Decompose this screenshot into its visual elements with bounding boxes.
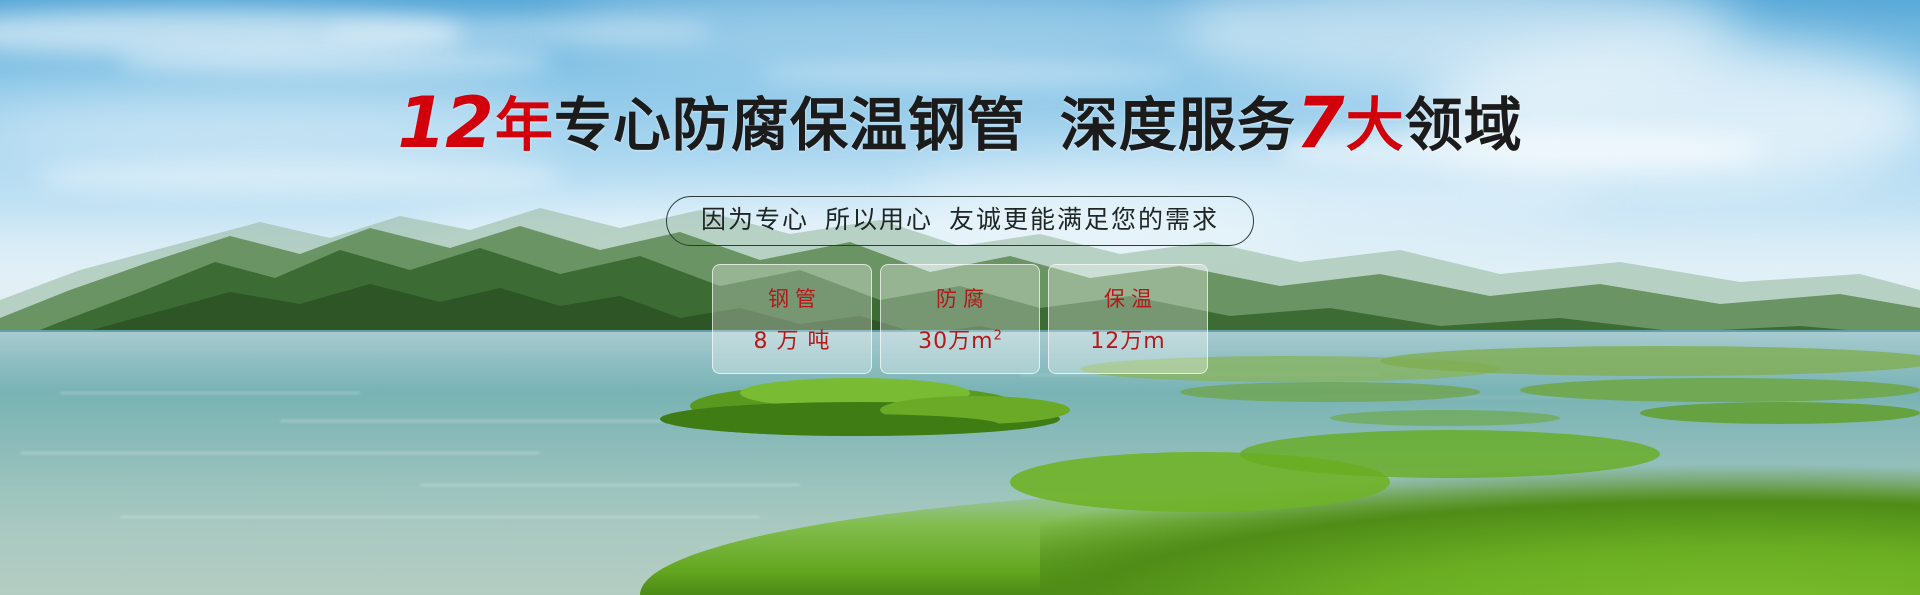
subtitle-pill: 因为专心所以用心友诚更能满足您的需求 bbox=[666, 196, 1254, 246]
page-title: 12年专心防腐保温钢管深度服务7大领域 bbox=[0, 78, 1920, 164]
headline-fields-unit: 大 bbox=[1346, 91, 1405, 159]
subtitle-wrapper: 因为专心所以用心友诚更能满足您的需求 bbox=[0, 196, 1920, 246]
headline-part-c: 领域 bbox=[1405, 91, 1523, 159]
subtitle-segment-1: 因为专心 bbox=[701, 205, 809, 234]
stat-card-label: 防腐 bbox=[930, 283, 990, 313]
stat-card: 防腐 30万m2 bbox=[880, 264, 1040, 374]
stat-card-group: 钢管 8 万 吨 防腐 30万m2 保温 12万m bbox=[0, 264, 1920, 374]
stat-card-value-text: 8 万 吨 bbox=[754, 329, 831, 354]
stat-card-label: 钢管 bbox=[762, 283, 822, 313]
stat-card: 保温 12万m bbox=[1048, 264, 1208, 374]
stat-card-value-sup: 2 bbox=[994, 329, 1002, 344]
stat-card-value: 12万m bbox=[1090, 323, 1165, 355]
headline-part-a: 专心防腐保温钢管 bbox=[554, 91, 1026, 159]
subtitle-segment-3: 友诚更能满足您的需求 bbox=[949, 205, 1219, 234]
subtitle-segment-2: 所以用心 bbox=[825, 205, 933, 234]
stat-card-value: 30万m2 bbox=[918, 323, 1002, 355]
stat-card-value: 8 万 吨 bbox=[754, 323, 831, 355]
headline-fields-number: 7 bbox=[1296, 82, 1346, 164]
banner-content: 12年专心防腐保温钢管深度服务7大领域 因为专心所以用心友诚更能满足您的需求 钢… bbox=[0, 0, 1920, 595]
hero-banner: 12年专心防腐保温钢管深度服务7大领域 因为专心所以用心友诚更能满足您的需求 钢… bbox=[0, 0, 1920, 595]
headline-years-number: 12 bbox=[397, 82, 494, 164]
stat-card: 钢管 8 万 吨 bbox=[712, 264, 872, 374]
stat-card-value-text: 12万m bbox=[1090, 329, 1165, 354]
headline-part-b: 深度服务 bbox=[1060, 91, 1296, 159]
stat-card-value-text: 30万m bbox=[918, 329, 993, 354]
stat-card-label: 保温 bbox=[1098, 283, 1158, 313]
headline-years-unit: 年 bbox=[495, 91, 554, 159]
